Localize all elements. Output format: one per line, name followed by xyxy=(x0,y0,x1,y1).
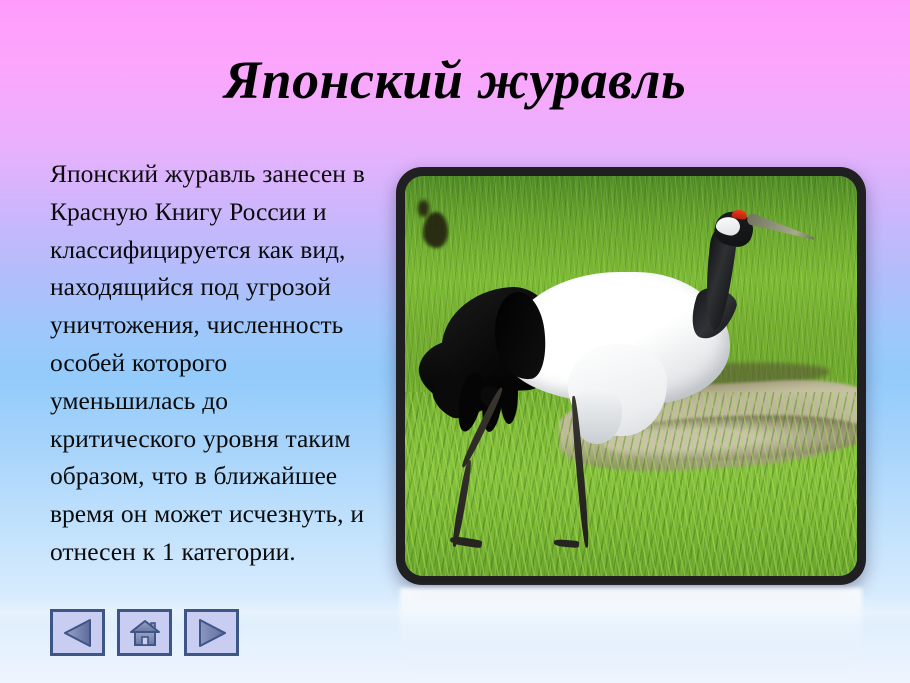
triangle-right-icon xyxy=(197,619,227,647)
presentation-slide: Японский журавль Японский журавль занесе… xyxy=(0,0,910,683)
photo-frame xyxy=(396,167,866,585)
home-button[interactable] xyxy=(117,609,172,656)
crane-front-leg-lower xyxy=(451,459,473,547)
forward-button[interactable] xyxy=(184,609,239,656)
photo-container xyxy=(396,167,866,585)
crane-beak xyxy=(746,212,817,244)
page-title: Японский журавль xyxy=(0,48,910,112)
crane-plume-tip xyxy=(500,376,518,424)
back-button[interactable] xyxy=(50,609,105,656)
photo-reflection xyxy=(400,588,862,672)
triangle-left-icon xyxy=(63,619,93,647)
crane-back-foot xyxy=(554,539,579,548)
navigation-bar xyxy=(50,609,239,656)
crane-photograph xyxy=(405,176,857,576)
body-paragraph: Японский журавль занесен в Красную Книгу… xyxy=(50,155,370,571)
home-icon xyxy=(129,619,161,647)
crane-figure xyxy=(405,176,857,576)
